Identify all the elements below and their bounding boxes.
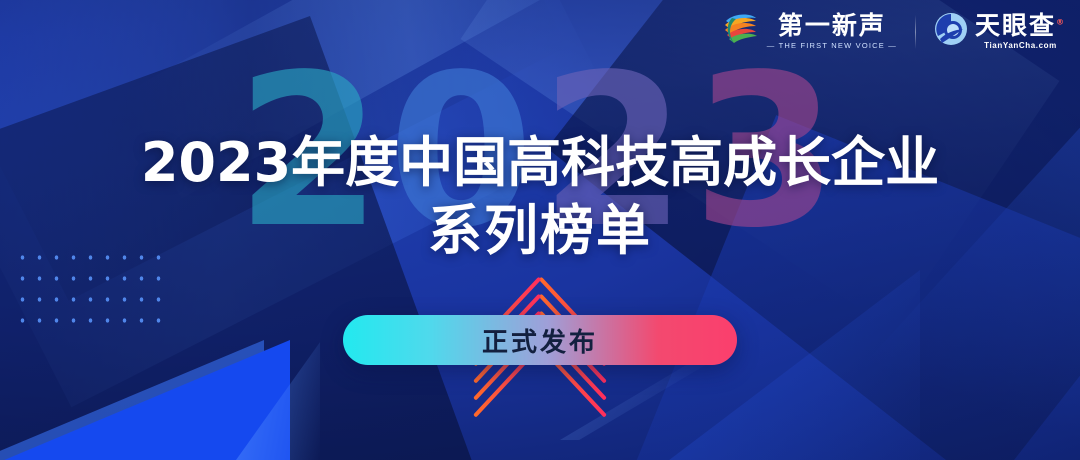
background-streak-top-left-2 [0, 0, 568, 301]
background-shade-left [0, 16, 488, 460]
ghost-year-watermark: 2023 [0, 52, 1080, 252]
release-status-pill[interactable]: 正式发布 [343, 315, 737, 365]
background-facet-right-c [615, 115, 1080, 460]
logo-diyixinsheng-cn: 第一新声 [778, 13, 886, 38]
headline-line-1: 2023年度中国高科技高成长企业 [0, 132, 1080, 194]
release-status-label: 正式发布 [482, 322, 598, 359]
logo-diyixinsheng-tagline: — THE FIRST NEW VOICE — [767, 42, 897, 50]
logo-bar: 第一新声 — THE FIRST NEW VOICE — 天眼查® TianYa… [722, 12, 1066, 51]
background-facet-right-b [740, 40, 1080, 460]
logo-tianyancha-cn: 天眼查® [975, 13, 1066, 38]
dot-grid-decoration [12, 243, 164, 327]
logo-tianyancha-text: 天眼查® TianYanCha.com [975, 13, 1066, 50]
trademark-symbol: ® [1056, 18, 1066, 27]
swirl-logo-icon [722, 12, 760, 51]
background-triangle-bottom-left-edge [236, 326, 320, 460]
logo-tianyancha[interactable]: 天眼查® TianYanCha.com [934, 12, 1066, 51]
logo-diyixinsheng-text: 第一新声 — THE FIRST NEW VOICE — [767, 13, 897, 50]
headline-line-2: 系列榜单 [0, 200, 1080, 262]
page-title: 2023年度中国高科技高成长企业 系列榜单 [0, 132, 1080, 262]
ghost-digit-3: 2 [540, 29, 692, 274]
background-facet-right-d [590, 270, 920, 460]
background-facet-right-a [547, 0, 1080, 460]
logo-tianyancha-tagline: TianYanCha.com [984, 42, 1057, 50]
background-triangle-bottom-left-shadow [0, 340, 264, 460]
ghost-digit-4: 3 [692, 29, 844, 274]
background-triangle-bottom-left [0, 340, 290, 460]
promotional-banner: 2023 2023年度中国高科技高成长企业 系列榜单 正式发布 [0, 0, 1080, 460]
eye-aperture-icon [934, 12, 968, 51]
background-streak-top-left-3 [124, 0, 637, 199]
logo-diyixinsheng[interactable]: 第一新声 — THE FIRST NEW VOICE — [722, 12, 897, 51]
ghost-digit-2: 0 [388, 29, 540, 274]
ghost-digit-1: 2 [236, 29, 388, 274]
logo-divider [915, 15, 916, 49]
